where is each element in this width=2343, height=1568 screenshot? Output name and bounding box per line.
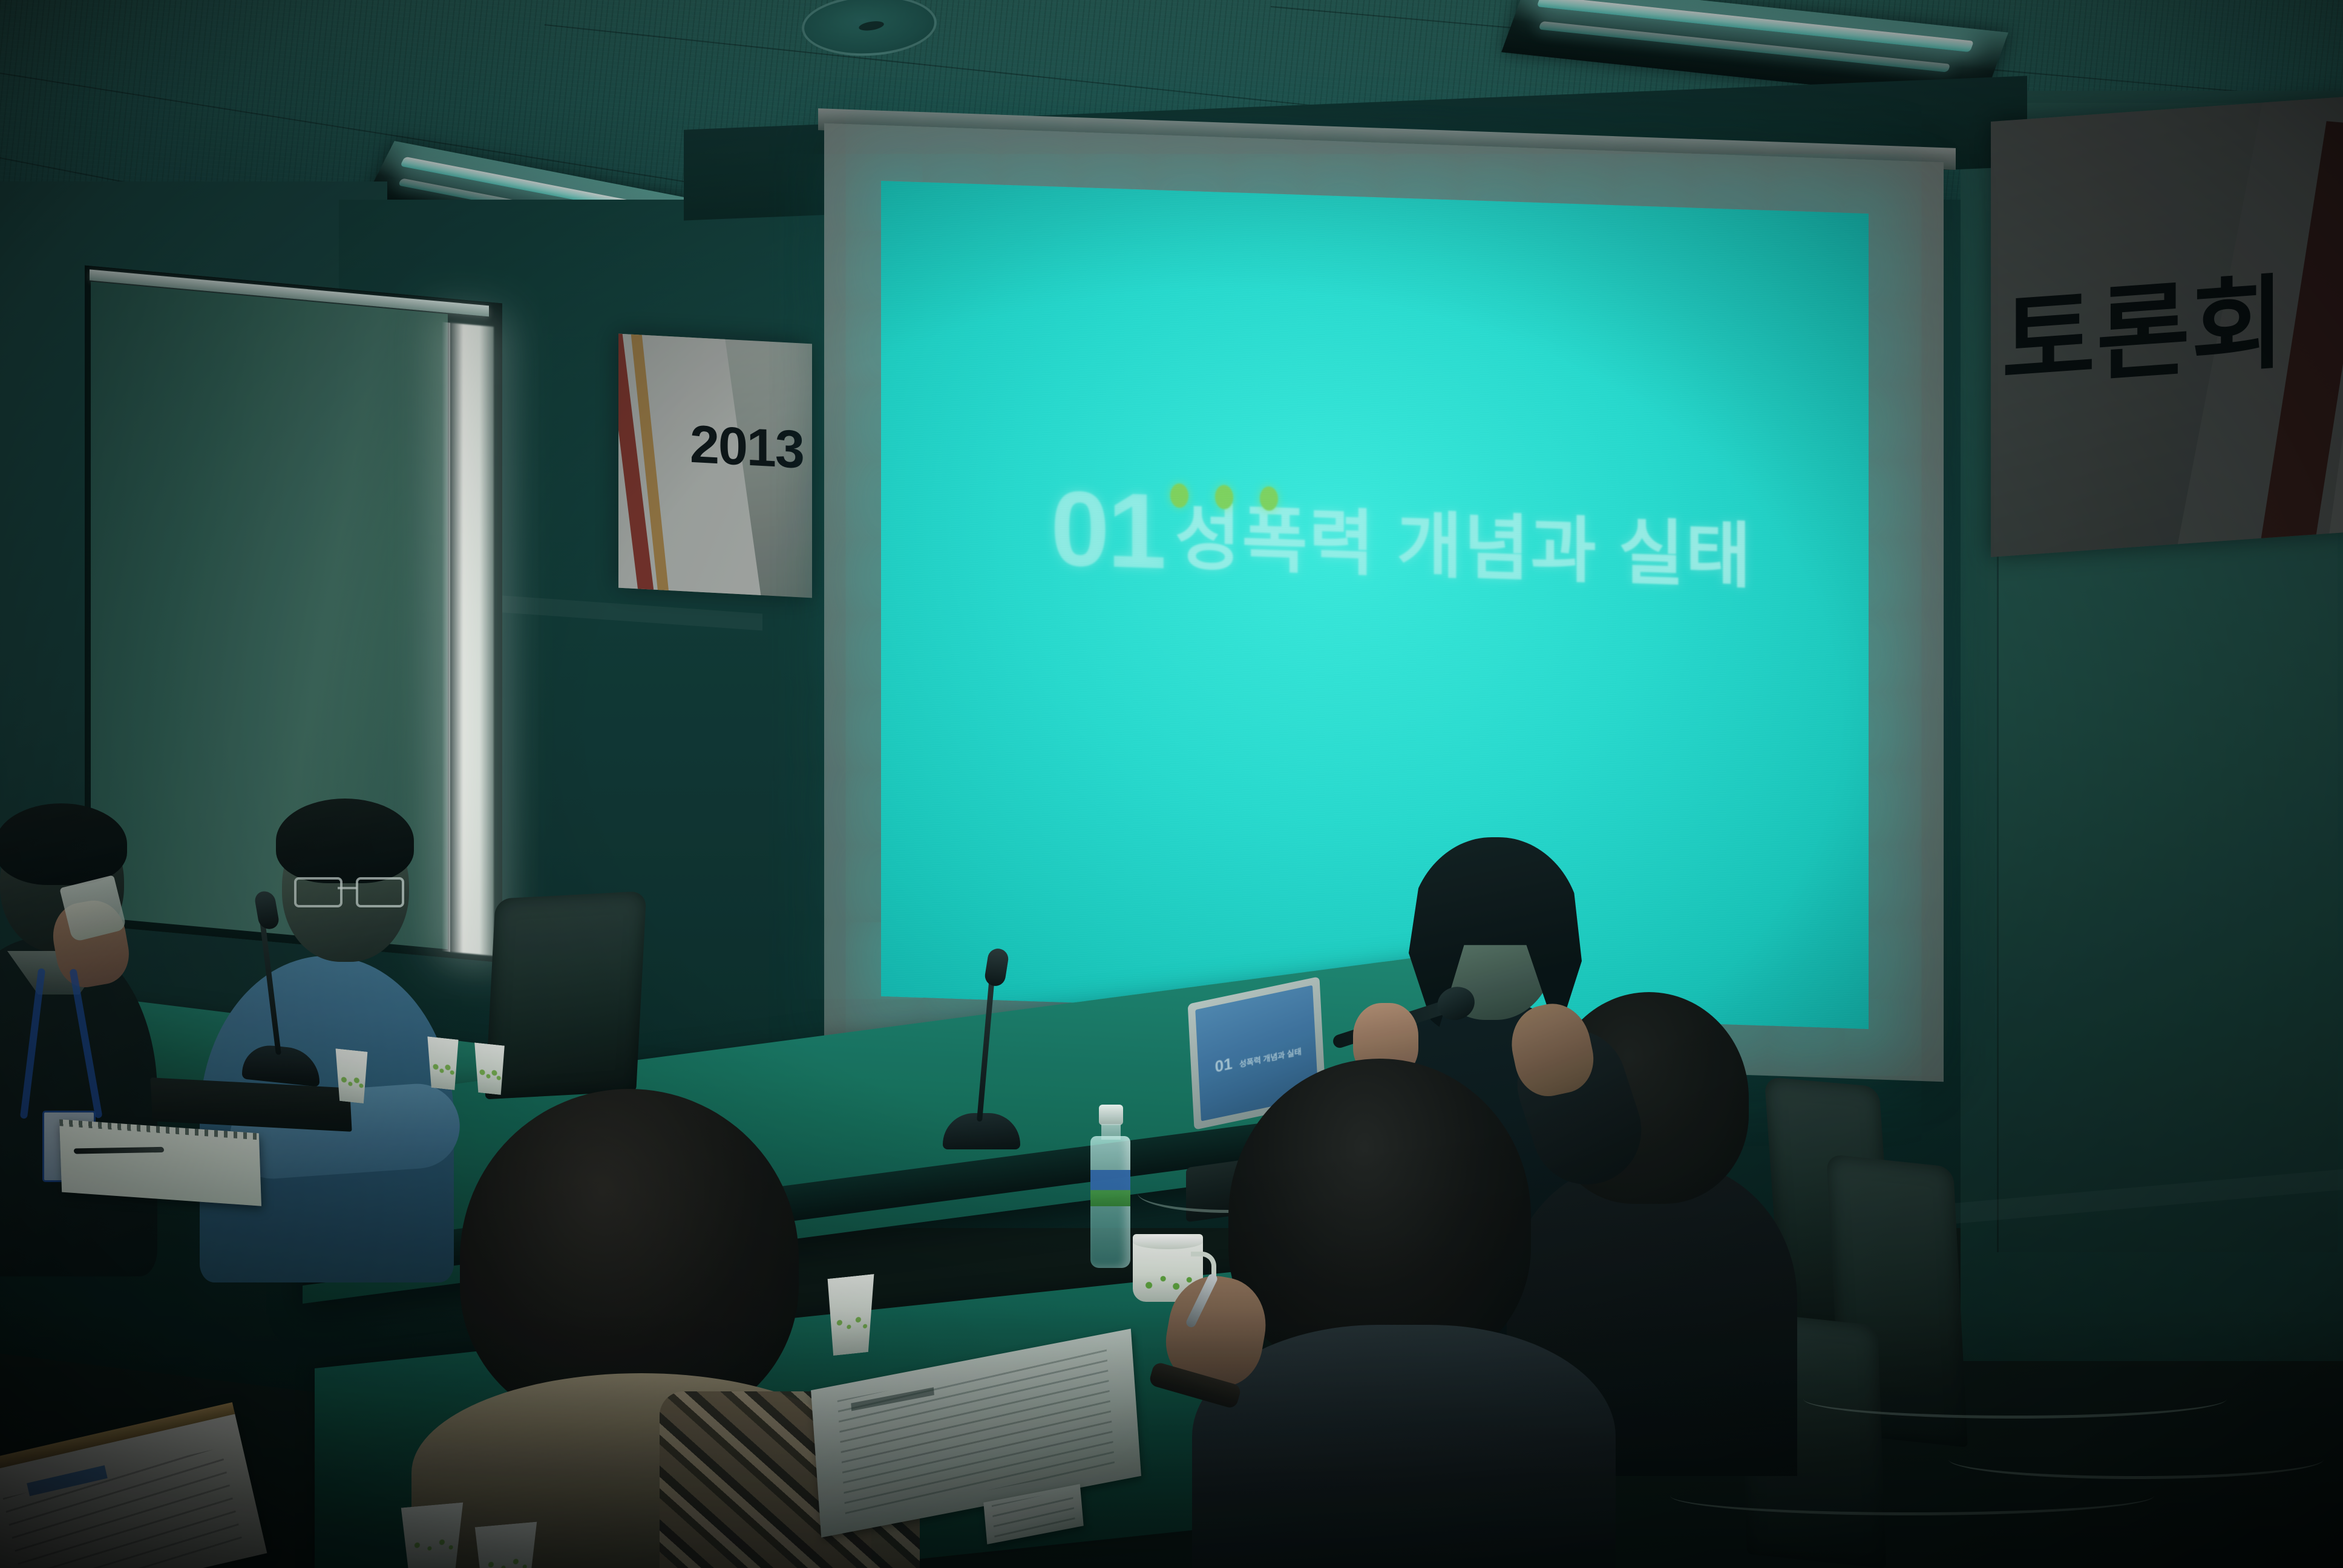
jacket-hair [276, 799, 414, 883]
laptop-slide-number: 01 [1214, 1054, 1233, 1076]
bottle-label [1090, 1170, 1130, 1206]
banner-left-text: 2013 [690, 413, 804, 481]
banner-right-text: 토론회 [2002, 240, 2286, 407]
water-bottle [1089, 1105, 1132, 1268]
suit-hair [0, 803, 127, 885]
slide-content: 01 성폭력 개념과 실태 [1050, 483, 1752, 598]
floor-cable-1 [1803, 1379, 2227, 1419]
banner-left: 2013 [618, 334, 812, 598]
banner-right: 토론회 [1991, 96, 2343, 557]
bottle-cap [1099, 1105, 1123, 1125]
chair-back-left[interactable] [485, 891, 647, 1100]
floor-cable-3 [1670, 1476, 2154, 1515]
slide-number: 01 [1050, 483, 1164, 578]
daylight-strip [447, 322, 494, 956]
floor-cable-2 [1948, 1440, 2324, 1479]
slide-dots-icon [1170, 483, 1278, 511]
laptop-slide-title: 성폭력 개념과 실태 [1239, 1047, 1302, 1069]
gooseneck-microphone-left[interactable] [242, 897, 319, 1086]
eyeglasses-icon [294, 877, 402, 904]
spiral-notepad [59, 1119, 261, 1206]
pen-on-notepad [74, 1147, 165, 1154]
projected-slide: 01 성폭력 개념과 실태 [881, 181, 1869, 1029]
slide-title: 성폭력 개념과 실태 [1175, 502, 1752, 593]
gooseneck-microphone-center[interactable] [943, 944, 1020, 1149]
program-booklet [0, 1412, 267, 1568]
conference-room-photo: 2013 토론회 01 성폭력 개념과 실태 [0, 0, 2343, 1568]
